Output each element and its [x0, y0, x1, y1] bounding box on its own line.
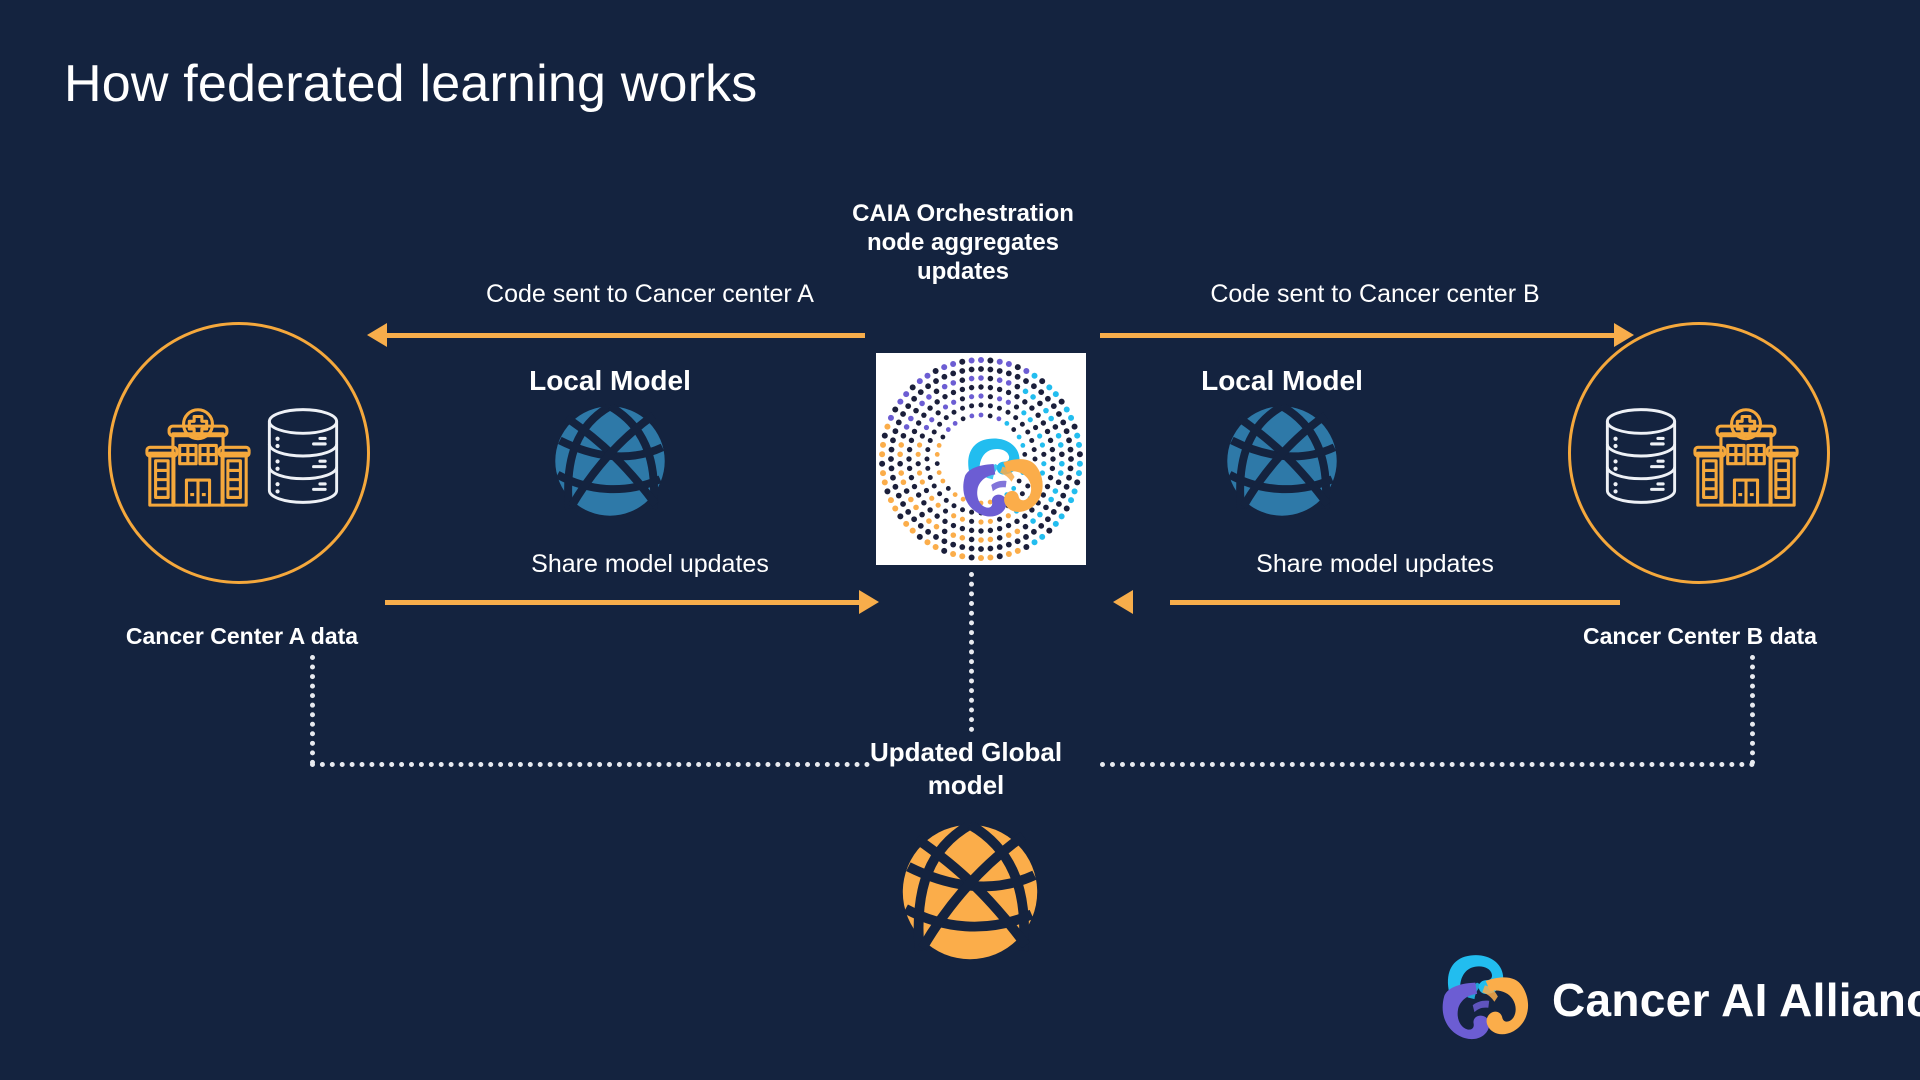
- updated-global-model-label: Updated Global model: [848, 736, 1084, 801]
- dotted-connector-left-vertical: [310, 655, 315, 765]
- arrow-head-share-from-b: [1113, 590, 1133, 614]
- globe-icon: [553, 404, 667, 518]
- arrow-line-share-from-b: [1170, 600, 1620, 605]
- hospital-icon: [1688, 403, 1804, 509]
- arrow-label-share-from-b: Share model updates: [1055, 550, 1695, 579]
- database-icon: [262, 406, 344, 506]
- cancer-center-b-icons: [1571, 325, 1833, 587]
- slide-canvas: How federated learning works: [0, 0, 1920, 1080]
- local-model-b-label: Local Model: [1152, 365, 1412, 397]
- arrow-line-code-to-a: [385, 333, 865, 338]
- cancer-center-b-circle: [1568, 322, 1830, 584]
- dotted-connector-left-horizontal: [310, 762, 870, 767]
- database-icon: [1600, 406, 1682, 506]
- three-hands-logo: [1432, 948, 1536, 1052]
- orchestration-node-image: [876, 353, 1086, 565]
- caia-dotted-rings-logo: [876, 353, 1086, 565]
- cancer-center-a-caption: Cancer Center A data: [104, 623, 380, 650]
- brand-logo: Cancer AI Alliance: [1432, 948, 1920, 1052]
- cancer-center-a-circle: [108, 322, 370, 584]
- cancer-center-b-caption: Cancer Center B data: [1562, 623, 1838, 650]
- cancer-center-a-icons: [111, 325, 373, 587]
- brand-name: Cancer AI Alliance: [1552, 973, 1920, 1027]
- dotted-connector-center-vertical: [969, 572, 974, 732]
- arrow-label-share-from-a: Share model updates: [330, 550, 970, 579]
- arrow-label-code-to-b: Code sent to Cancer center B: [1055, 280, 1695, 309]
- arrow-line-share-from-a: [385, 600, 865, 605]
- arrow-line-code-to-b: [1100, 333, 1620, 338]
- globe-icon: [900, 822, 1040, 962]
- dotted-connector-right-vertical: [1750, 655, 1755, 765]
- globe-icon: [1225, 404, 1339, 518]
- local-model-a-label: Local Model: [480, 365, 740, 397]
- orchestration-node-label: CAIA Orchestration node aggregates updat…: [845, 200, 1081, 286]
- arrow-head-share-from-a: [859, 590, 879, 614]
- page-title: How federated learning works: [64, 54, 758, 114]
- arrow-head-code-to-a: [367, 323, 387, 347]
- hospital-icon: [140, 403, 256, 509]
- arrow-head-code-to-b: [1614, 323, 1634, 347]
- dotted-connector-right-horizontal: [1100, 762, 1755, 767]
